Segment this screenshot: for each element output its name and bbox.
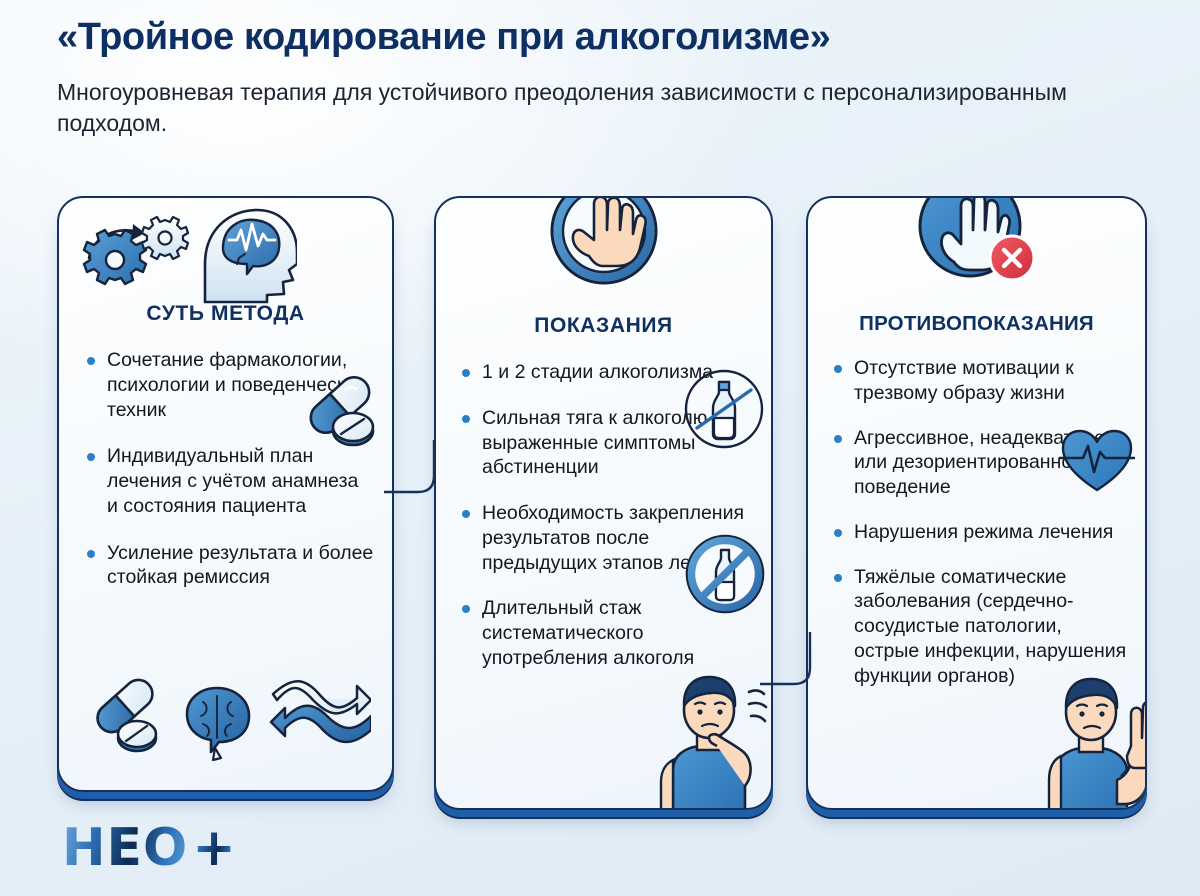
no-alcohol-bottle-icon [683, 532, 767, 616]
heart-ecg-icon [1059, 426, 1135, 496]
bottle-circle-icon [683, 368, 765, 450]
card-method-essence[interactable]: СУТЬ МЕТОДА Сочетание фармакологии, псих… [57, 196, 394, 792]
list-item: Нарушения режима лечения [832, 520, 1127, 545]
hand-stop-red-x-icon [916, 198, 1038, 290]
brand-logo[interactable]: НЕО + [62, 822, 237, 874]
card-3-heading: ПРОТИВОПОКАЗАНИЯ [826, 312, 1127, 336]
list-item: Отсутствие мотивации к трезвому образу ж… [832, 356, 1127, 406]
card-3-bullets: Отсутствие мотивации к трезвому образу ж… [826, 356, 1127, 688]
pills-brain-arrows-icon [81, 668, 371, 780]
connector-card1-card2 [384, 440, 444, 500]
page-subtitle: Многоуровневая терапия для устойчивого п… [57, 77, 1137, 140]
page-title: «Тройное кодирование при алкоголизме» [57, 16, 1157, 59]
card-indications[interactable]: ПОКАЗАНИЯ 1 и 2 стадии алкоголизма Сильн… [434, 196, 773, 810]
person-thinking-icon [657, 666, 771, 808]
list-item: Индивидуальный план лечения с учётом ана… [85, 444, 374, 518]
list-item: Усиление результата и более стойкая реми… [85, 541, 374, 591]
person-raised-hand-icon [1043, 664, 1145, 808]
stop-hand-prohibition-icon [545, 198, 663, 290]
pills-icon [296, 373, 384, 451]
card-contraindications[interactable]: ПРОТИВОПОКАЗАНИЯ Отсутствие мотивации к … [806, 196, 1147, 810]
card-2-heading: ПОКАЗАНИЯ [454, 314, 753, 338]
logo-text: НЕО [62, 822, 188, 874]
cards-row: СУТЬ МЕТОДА Сочетание фармакологии, псих… [0, 196, 1200, 826]
page-header: «Тройное кодирование при алкоголизме» Мн… [57, 16, 1157, 139]
logo-plus-icon: + [192, 822, 237, 874]
gears-head-brain-icon [77, 202, 297, 306]
